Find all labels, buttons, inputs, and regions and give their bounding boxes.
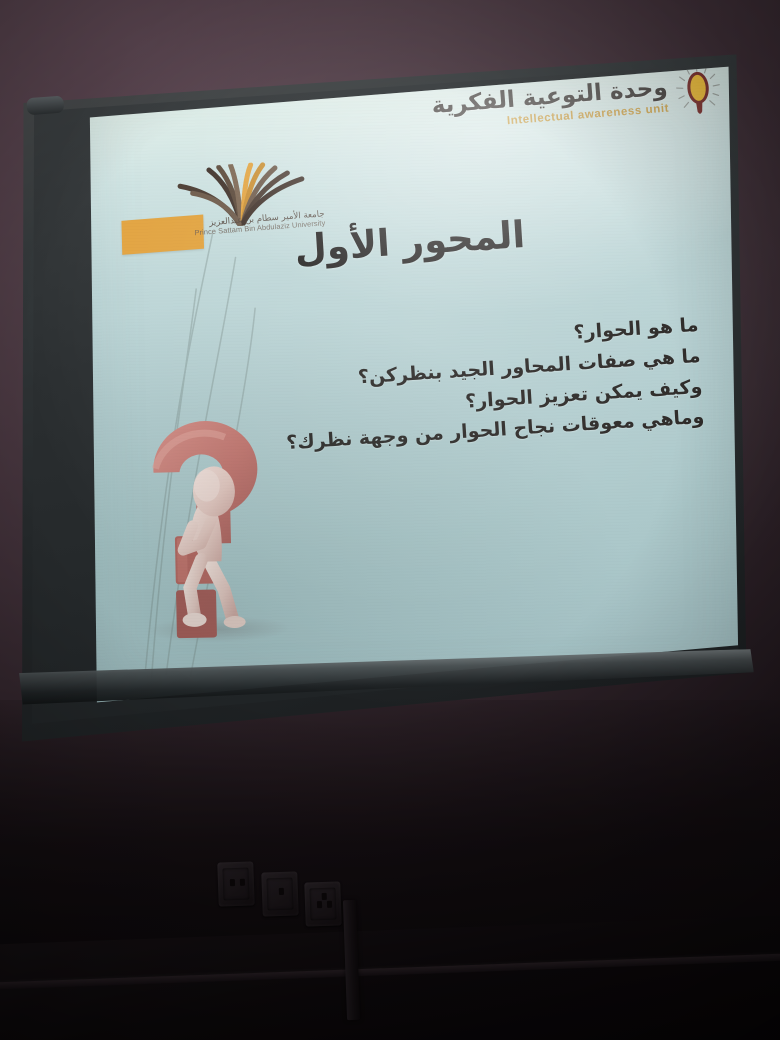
lightbulb-icon [674,67,724,124]
socket-face [266,878,293,911]
socket-left[interactable] [217,861,255,906]
socket-middle[interactable] [261,871,299,916]
socket-face [309,888,336,921]
classroom-scene: وحدة التوعية الفكرية Intellectual awaren… [0,0,780,1040]
screen-clip [26,96,64,116]
socket-face [222,868,249,901]
socket-right[interactable] [304,881,342,926]
projection-screen: وحدة التوعية الفكرية Intellectual awaren… [0,54,755,741]
projected-slide: وحدة التوعية الفكرية Intellectual awaren… [81,67,744,705]
question-mark-thinker-illustration [124,391,307,645]
